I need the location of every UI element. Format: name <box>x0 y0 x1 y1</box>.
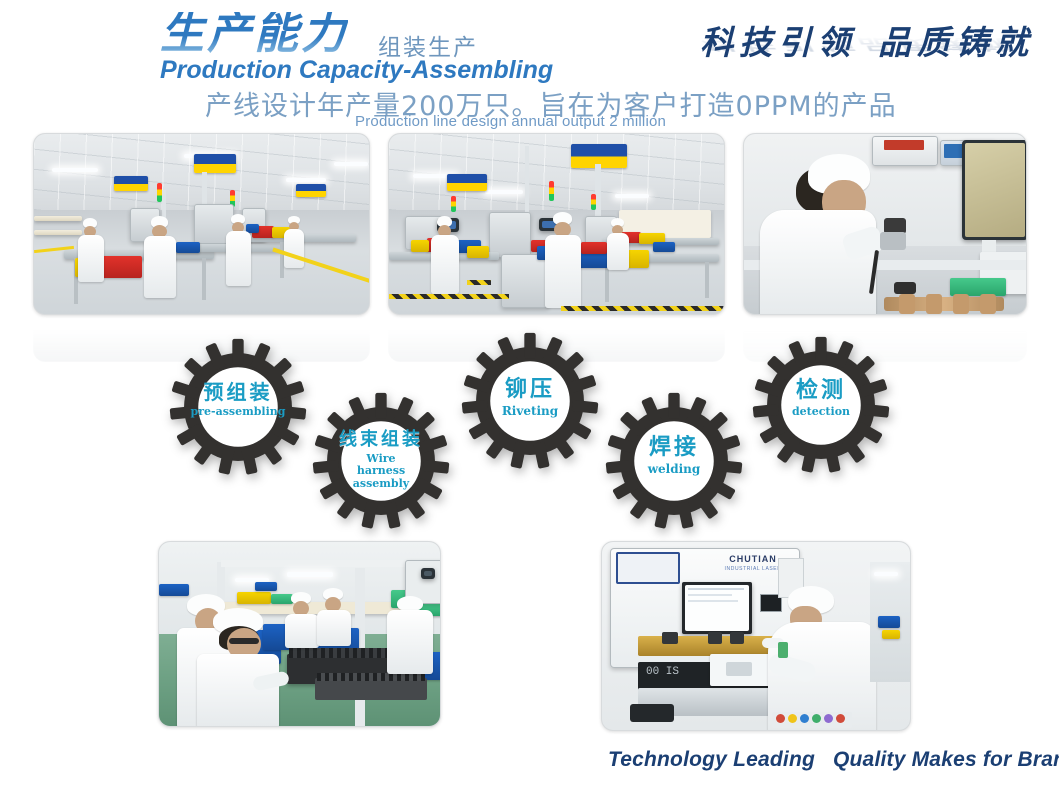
footer-slogan: Technology LeadingQuality Makes for Bran… <box>608 748 1059 772</box>
slide-canvas: 生产能力 组装生产 Production Capacity-Assembling… <box>0 0 1059 795</box>
footer-slogan-left: Technology Leading <box>608 748 815 771</box>
gear-detection: 检测 detection <box>743 334 899 476</box>
page-title-en: Production Capacity-Assembling <box>160 56 553 85</box>
gear-wire-harness-assembly: 线束组装 Wire harness assembly <box>303 390 459 532</box>
slogan-block: 科技引领品质铸就 科技引领品质铸就 <box>700 16 1050 106</box>
machine-brand-sublabel: INDUSTRIAL LASER <box>722 566 784 574</box>
photo-laser-welding-machine: CHUTIAN INDUSTRIAL LASER 00 IS <box>601 541 911 731</box>
gear-welding: 焊接 welding <box>596 390 752 532</box>
page-description-en: Production line design annual output 2 m… <box>355 113 666 130</box>
footer-slogan-right: Quality Makes for Brand <box>833 748 1059 771</box>
photo-wire-harness-bench <box>158 541 441 727</box>
gear-riveting: 铆压 Riveting <box>452 330 608 472</box>
photo-inspection-operator <box>743 133 1027 315</box>
page-title-cn: 生产能力 <box>160 12 348 56</box>
photo-assembly-line-overview <box>33 133 370 315</box>
photo-riveting-area <box>388 133 725 315</box>
slogan-reflection: 科技引领品质铸就 <box>700 34 1012 56</box>
gear-pre-assembling: 预组装 pre-assembling <box>160 336 316 478</box>
